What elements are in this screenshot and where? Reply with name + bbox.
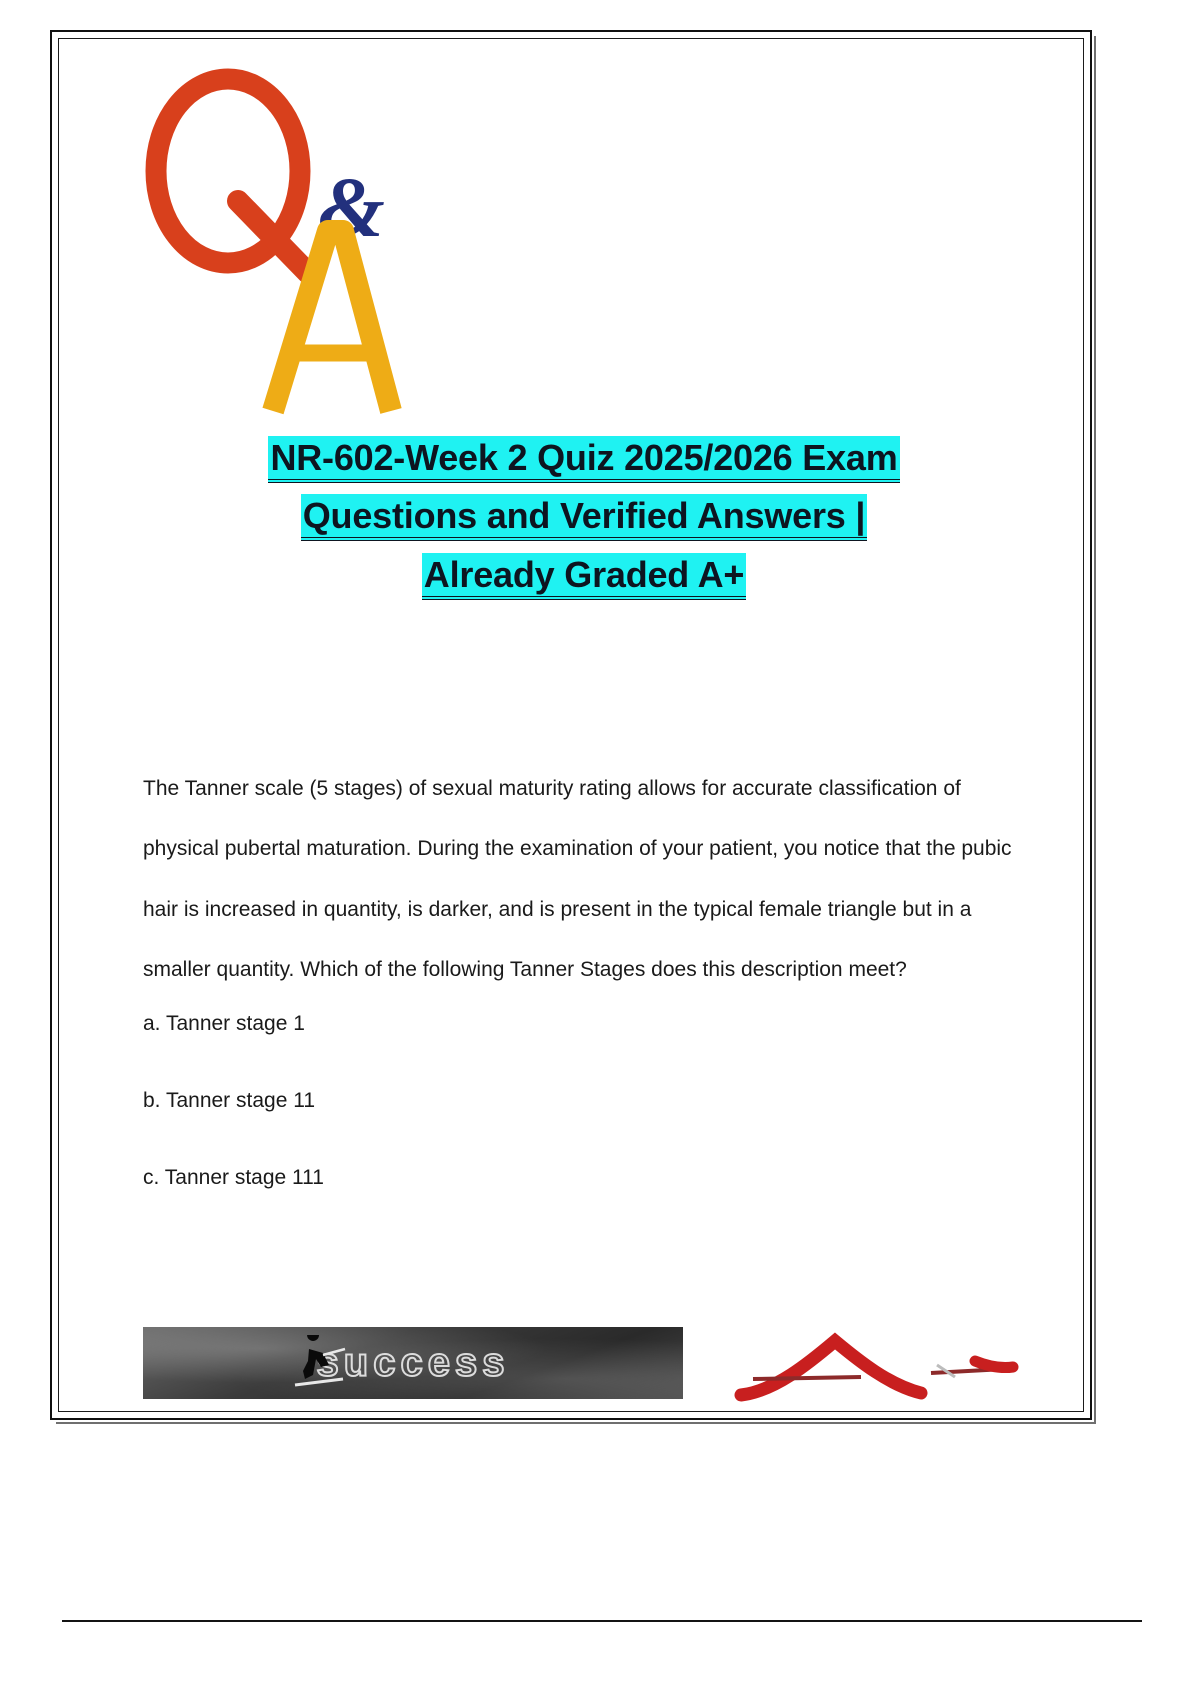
- title-line-2: Questions and Verified Answers |: [301, 494, 868, 541]
- answer-choice-a: a. Tanner stage 1: [143, 1011, 1023, 1036]
- title-line-1: NR-602-Week 2 Quiz 2025/2026 Exam: [268, 436, 899, 483]
- question-block: The Tanner scale (5 stages) of sexual ma…: [143, 759, 1023, 1242]
- document-page: & NR-602-Week 2 Quiz 2025/2026 Exam Ques…: [50, 30, 1092, 1420]
- footer-graphics: success A+: [143, 1327, 1023, 1407]
- red-aplus-mark-icon: A+: [723, 1321, 1023, 1407]
- title-line-3: Already Graded A+: [422, 553, 746, 600]
- answer-choice-b: b. Tanner stage 11: [143, 1088, 1023, 1113]
- skier-silhouette-icon: [283, 1335, 355, 1397]
- page-title: NR-602-Week 2 Quiz 2025/2026 Exam Questi…: [169, 429, 999, 604]
- qa-logo: &: [143, 61, 403, 431]
- question-stem-line: The Tanner scale (5 stages) of sexual ma…: [143, 777, 813, 800]
- logo-letter-q-icon: [156, 79, 308, 273]
- question-stem: The Tanner scale (5 stages) of sexual ma…: [143, 759, 1023, 1001]
- next-page-divider: [62, 1620, 1142, 1622]
- page-inner-border: & NR-602-Week 2 Quiz 2025/2026 Exam Ques…: [58, 38, 1084, 1412]
- answer-choice-c: c. Tanner stage 111: [143, 1165, 1023, 1190]
- success-banner-text: success: [143, 1341, 683, 1386]
- success-banner-image: success: [143, 1327, 683, 1399]
- question-stem-line: quantity. Which of the following Tanner …: [217, 958, 907, 981]
